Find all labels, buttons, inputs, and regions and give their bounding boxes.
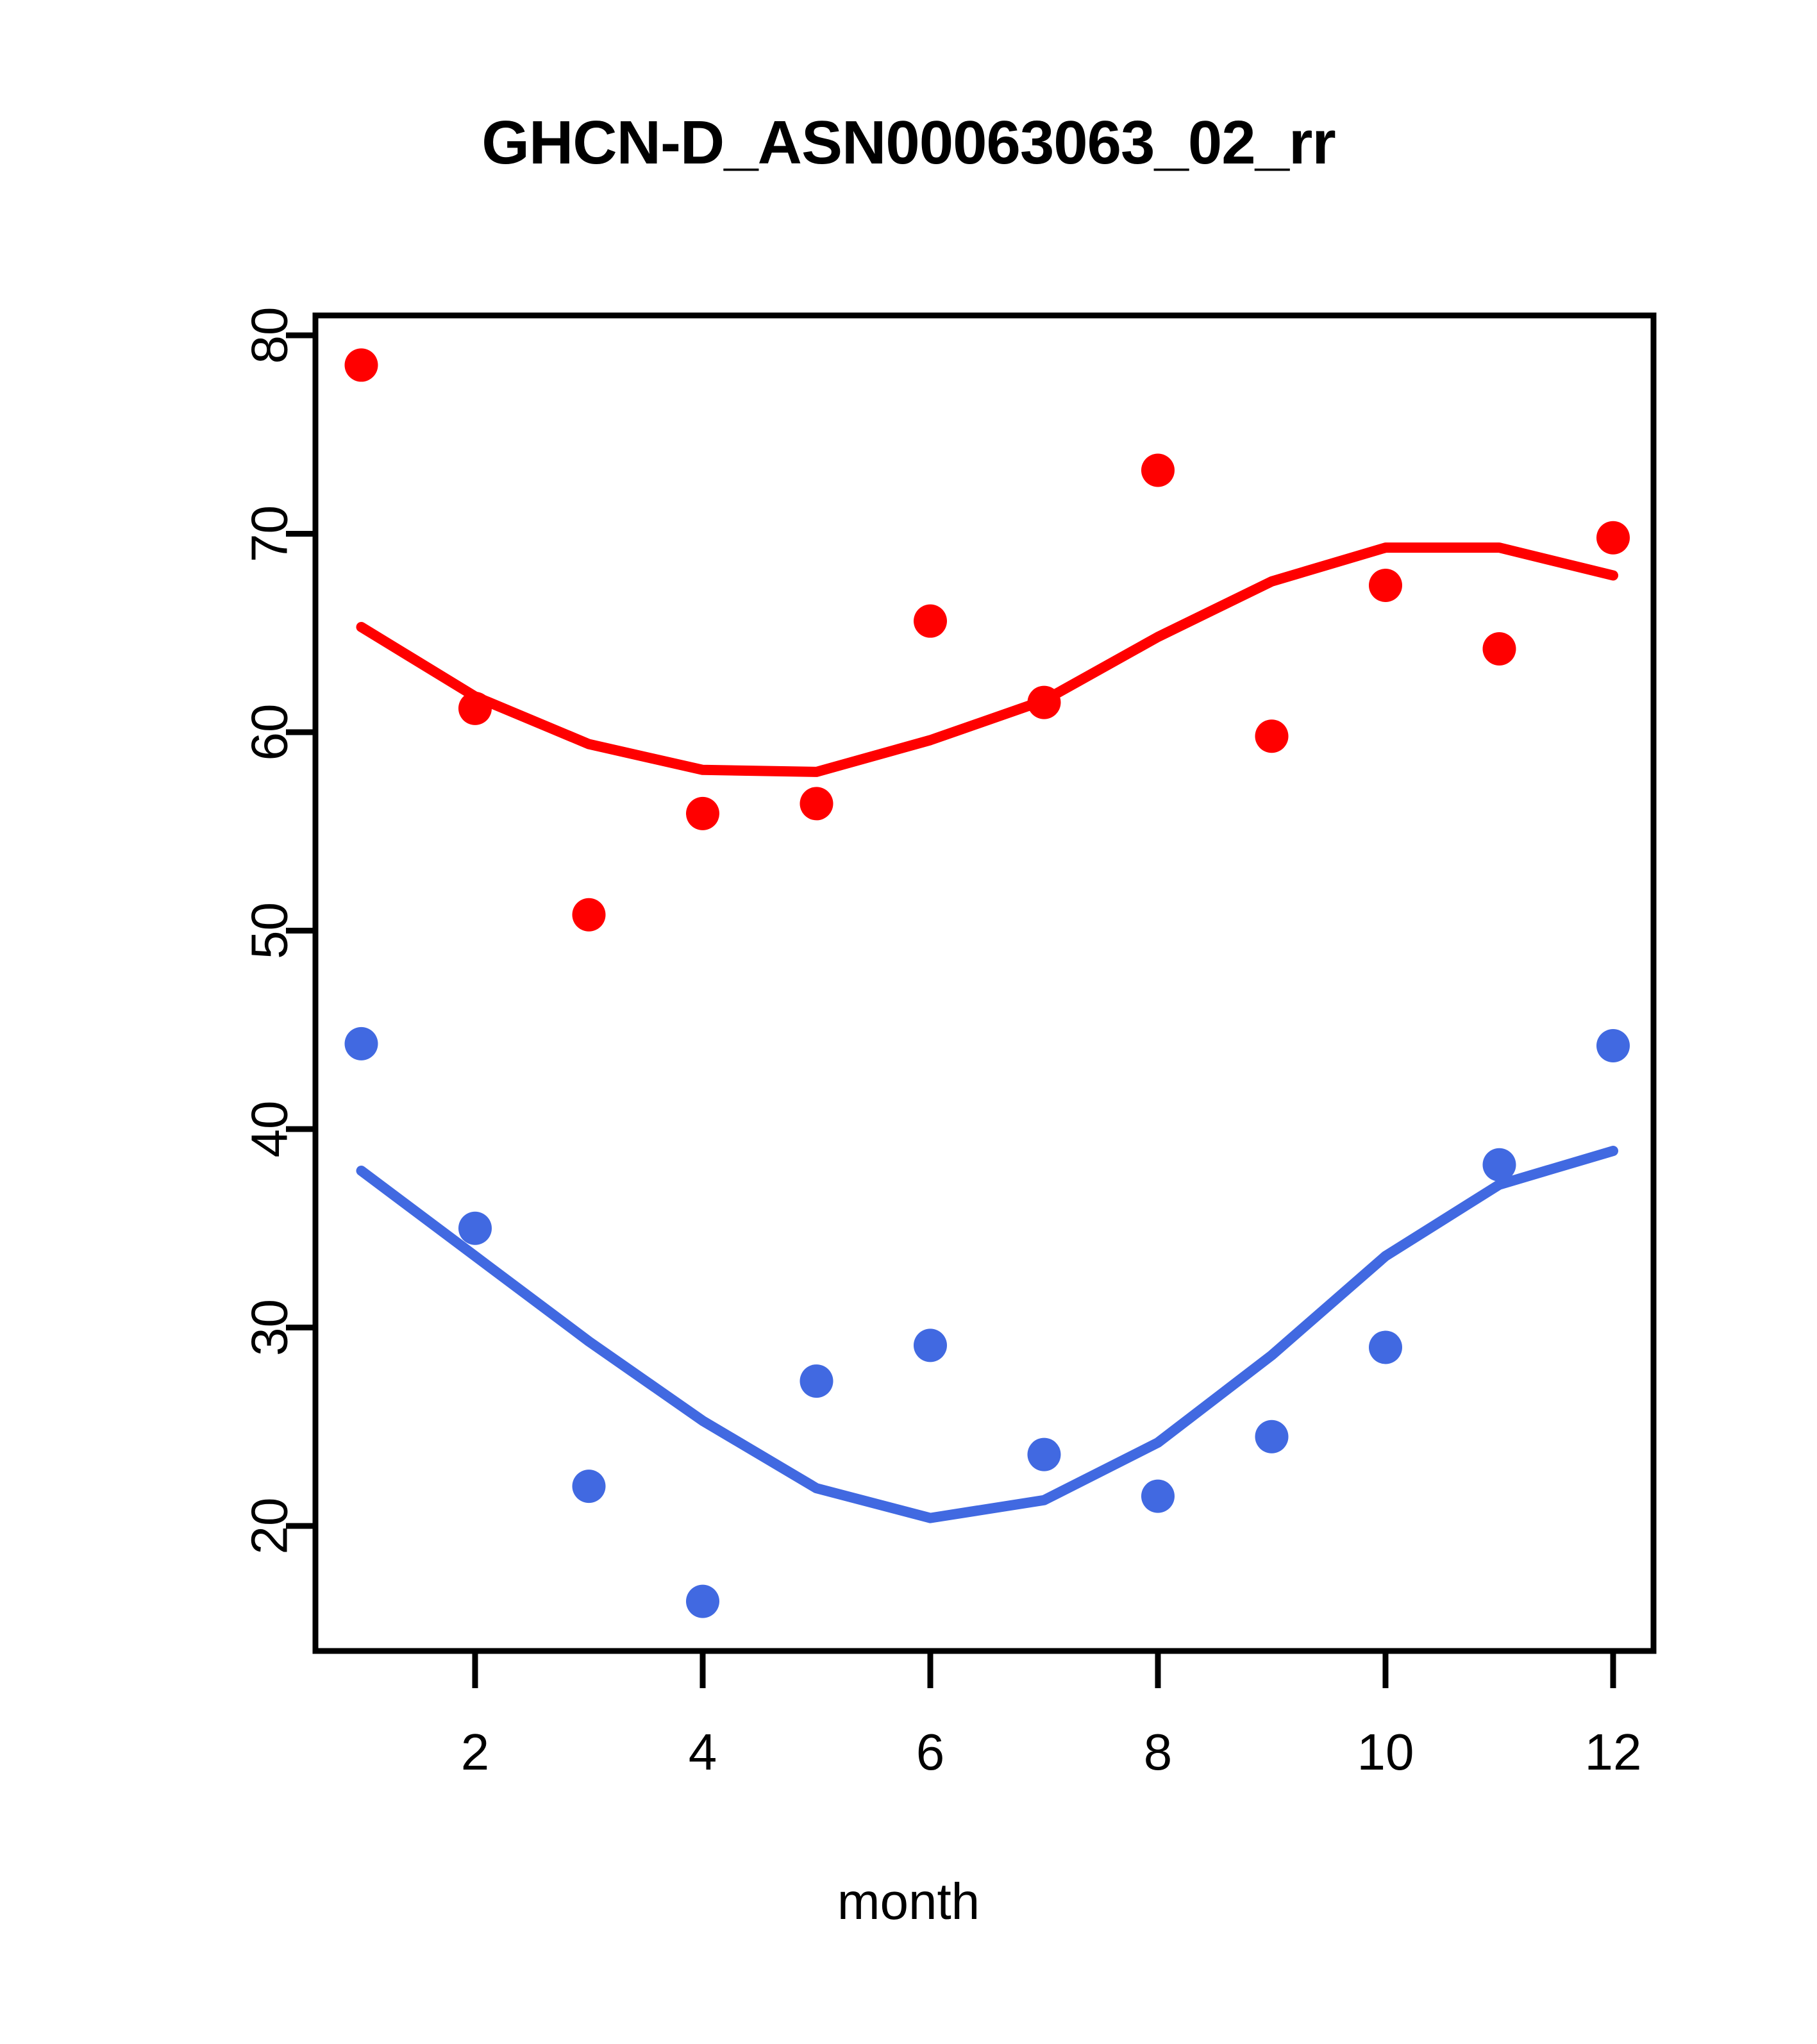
data-point-lower-3 [573, 1470, 606, 1503]
x-axis-tick-labels: 24681012 [461, 1723, 1642, 1780]
y-tick-label-20: 20 [241, 1498, 298, 1555]
data-point-upper-2 [458, 692, 492, 725]
data-point-lower-6 [914, 1328, 947, 1362]
y-tick-label-80: 80 [241, 307, 298, 364]
data-point-lower-10 [1369, 1330, 1402, 1364]
y-tick-label-50: 50 [241, 902, 298, 959]
data-point-lower-4 [686, 1585, 719, 1618]
chart-container: GHCN-D_ASN00063063_02_rr 20304050607080 … [0, 0, 1817, 2044]
data-point-upper-10 [1369, 569, 1402, 602]
y-tick-label-70: 70 [241, 505, 298, 562]
data-point-upper-12 [1596, 521, 1630, 555]
data-point-lower-8 [1141, 1480, 1175, 1513]
x-tick-label-6: 6 [916, 1723, 945, 1780]
x-tick-label-4: 4 [689, 1723, 717, 1780]
data-point-upper-4 [686, 797, 719, 830]
scatter-plot-svg: 20304050607080 24681012 [0, 0, 1817, 2044]
data-point-lower-2 [458, 1212, 492, 1245]
x-tick-label-8: 8 [1144, 1723, 1173, 1780]
data-point-upper-6 [914, 605, 947, 638]
x-axis-label: month [0, 1872, 1817, 1931]
trend-lines [362, 548, 1614, 1518]
y-tick-label-60: 60 [241, 704, 298, 761]
x-tick-label-10: 10 [1357, 1723, 1414, 1780]
x-tick-label-12: 12 [1585, 1723, 1642, 1780]
data-point-upper-1 [345, 348, 378, 381]
y-tick-label-30: 30 [241, 1299, 298, 1356]
data-point-lower-1 [345, 1027, 378, 1060]
data-point-lower-12 [1596, 1029, 1630, 1062]
data-point-upper-8 [1141, 453, 1175, 487]
data-point-upper-9 [1255, 719, 1289, 753]
data-point-upper-11 [1483, 632, 1516, 666]
data-point-lower-5 [800, 1364, 833, 1398]
data-point-upper-7 [1028, 686, 1061, 719]
data-point-lower-9 [1255, 1420, 1289, 1453]
data-point-lower-7 [1028, 1438, 1061, 1471]
data-point-upper-5 [800, 787, 833, 820]
data-points [345, 348, 1630, 1618]
y-tick-label-40: 40 [241, 1101, 298, 1158]
trend-line-lower [362, 1151, 1614, 1518]
trend-line-upper [362, 548, 1614, 772]
x-tick-label-2: 2 [461, 1723, 490, 1780]
data-point-lower-11 [1483, 1148, 1516, 1182]
x-axis-ticks [475, 1651, 1613, 1688]
plot-frame [315, 315, 1654, 1651]
y-axis-tick-labels: 20304050607080 [241, 307, 298, 1555]
data-point-upper-3 [573, 898, 606, 932]
